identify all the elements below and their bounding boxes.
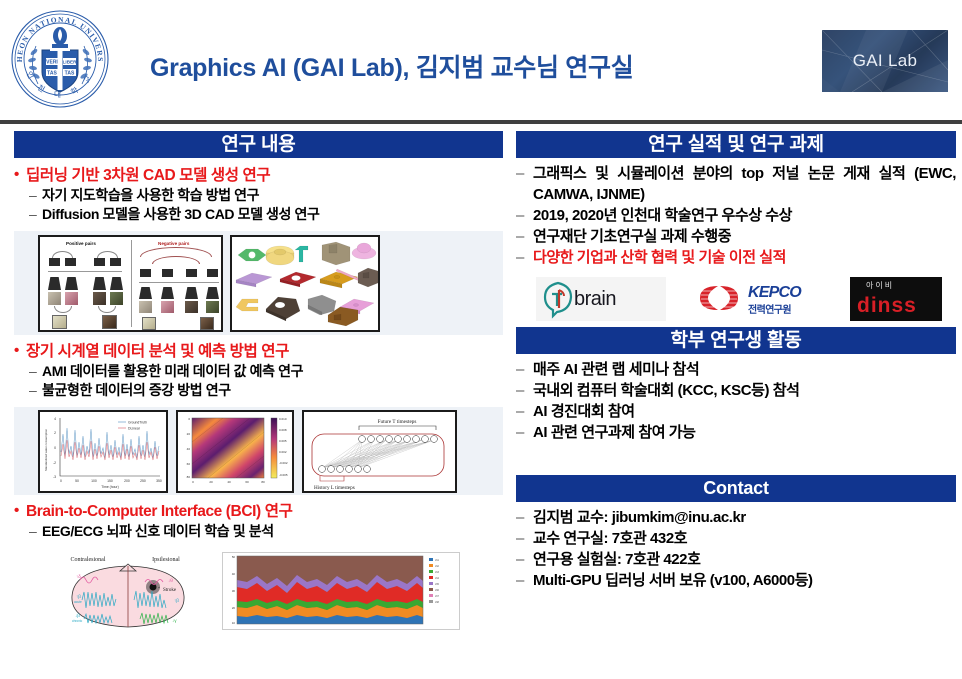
svg-text:0: 0 <box>192 480 194 484</box>
section-header-undergrad: 학부 연구생 활동 <box>516 327 956 354</box>
undergrad-item-3: AI 경진대회 참여 <box>516 401 956 422</box>
svg-text:↓β: ↓β <box>75 613 80 618</box>
svg-text:40: 40 <box>232 572 236 576</box>
left-column: 연구 내용 딥러닝 기반 3차원 CAD 모델 생성 연구 자기 지도학습을 사… <box>14 131 503 630</box>
svg-text:Time (hour): Time (hour) <box>101 485 118 489</box>
caption-positive-pairs: Positive pairs <box>66 241 96 246</box>
svg-text:40: 40 <box>187 447 191 451</box>
topic-group-timeseries: 장기 시계열 데이터 분석 및 예측 방법 연구 AMI 데이터를 활용한 미래… <box>14 342 503 400</box>
svg-text:↓θ: ↓θ <box>168 578 173 583</box>
svg-text:0: 0 <box>60 479 62 483</box>
svg-text:ch3: ch3 <box>435 571 440 574</box>
topic-sub-timeseries-2: 불균형한 데이터의 증강 방법 연구 <box>14 381 503 400</box>
eeg-brain-topography: Contralesional Ipsilesional Stroke ↑δ ↓θ <box>50 552 210 630</box>
cad-model-gallery <box>230 235 380 332</box>
svg-text:20: 20 <box>187 432 191 436</box>
gai-lab-logo-label: GAI Lab <box>822 30 948 92</box>
svg-text:50: 50 <box>232 555 236 559</box>
svg-text:-3: -3 <box>53 475 56 479</box>
svg-text:0.005: 0.005 <box>279 439 287 443</box>
caption-stroke: Stroke <box>163 588 177 593</box>
svg-text:30: 30 <box>232 589 236 593</box>
caption-future-timesteps: Future T timesteps <box>378 419 417 425</box>
topic-group-cad: 딥러닝 기반 3차원 CAD 모델 생성 연구 자기 지도학습을 사용한 학습 … <box>14 166 503 224</box>
svg-text:-2: -2 <box>53 461 56 465</box>
contrastive-learning-diagram: Positive pairs Negative pairs <box>38 235 223 332</box>
svg-text:150: 150 <box>107 479 113 483</box>
contact-item-server: Multi-GPU 딥러닝 서버 보유 (v100, A6000등) <box>516 570 956 591</box>
figure-strip-cad: Positive pairs Negative pairs <box>14 231 503 335</box>
svg-text:0.002: 0.002 <box>279 450 287 454</box>
svg-text:0: 0 <box>188 417 190 421</box>
header-divider <box>0 120 962 124</box>
caption-negative-pairs: Negative pairs <box>158 241 189 246</box>
svg-text:4: 4 <box>54 417 56 421</box>
svg-text:↑β: ↑β <box>76 594 81 599</box>
topic-sub-cad-1: 자기 지도학습을 사용한 학습 방법 연구 <box>14 186 503 205</box>
figure-strip-bci: Contralesional Ipsilesional Stroke ↑δ ↓θ <box>14 548 503 630</box>
svg-text:0.010: 0.010 <box>279 417 287 421</box>
caption-ipsilesional: Ipsilesional <box>152 557 180 563</box>
svg-text:↑β: ↑β <box>174 598 179 603</box>
svg-text:0.008: 0.008 <box>279 428 287 432</box>
svg-text:Standardized water consumption: Standardized water consumption <box>44 429 48 471</box>
dinss-logo-word: dinss <box>857 294 917 318</box>
partner-logos: brain KEPCO 전력연구원 아이비 dinss <box>516 277 956 323</box>
svg-text:80: 80 <box>261 480 265 484</box>
svg-text:ch4: ch4 <box>435 577 440 580</box>
svg-text:ch2: ch2 <box>435 565 440 568</box>
achievement-item-4: 다양한 기업과 산학 협력 및 기술 이전 실적 <box>516 247 956 268</box>
topic-heading-cad: 딥러닝 기반 3차원 CAD 모델 생성 연구 <box>14 166 503 186</box>
slide-header: INCHEON NATIONAL UNIVERSITY 인 천 대 학 교 <box>0 0 962 122</box>
brain-logo-word: brain <box>574 288 616 311</box>
contact-item-office: 교수 연구실: 7호관 432호 <box>516 528 956 549</box>
undergrad-list: 매주 AI 관련 랩 세미나 참석 국내외 컴퓨터 학술대회 (KCC, KSC… <box>516 359 956 443</box>
achievement-item-1: 그래픽스 및 시뮬레이션 분야의 top 저널 논문 게재 실적 (EWC, C… <box>516 163 956 205</box>
legend-dlinear: DLinear <box>128 426 141 430</box>
svg-text:↑δ: ↑δ <box>76 574 81 579</box>
section-header-achievements: 연구 실적 및 연구 과제 <box>516 131 956 158</box>
svg-text:acute: acute <box>74 600 82 604</box>
right-column: 연구 실적 및 연구 과제 그래픽스 및 시뮬레이션 분야의 top 저널 논문… <box>516 131 956 591</box>
contact-item-lab: 연구용 실험실: 7호관 422호 <box>516 549 956 570</box>
seal-veri-text: VERI <box>46 60 58 66</box>
section-header-contact: Contact <box>516 475 956 502</box>
timeseries-prediction-plot: 4 2 0 -2 -3 0 50 100 150 200 250 350 Tim… <box>38 410 168 493</box>
svg-text:50: 50 <box>75 479 79 483</box>
svg-text:ch1: ch1 <box>435 559 440 562</box>
svg-text:2: 2 <box>54 431 56 435</box>
svg-text:100: 100 <box>91 479 97 483</box>
contact-list: 김지범 교수: jibumkim@inu.ac.kr 교수 연구실: 7호관 4… <box>516 507 956 591</box>
undergrad-item-2: 국내외 컴퓨터 학술대회 (KCC, KSC등) 참석 <box>516 380 956 401</box>
topic-group-bci: Brain-to-Computer Interface (BCI) 연구 EEG… <box>14 502 503 541</box>
dinss-logo: 아이비 dinss <box>850 277 942 321</box>
seal-tas-left-text: TAS <box>47 71 57 77</box>
svg-text:250: 250 <box>140 479 146 483</box>
gai-lab-logo: GAI Lab <box>822 30 948 92</box>
svg-text:10: 10 <box>232 621 236 625</box>
svg-text:ch7: ch7 <box>435 595 440 598</box>
kepco-logo-word: KEPCO <box>748 284 801 302</box>
svg-text:20: 20 <box>232 606 236 610</box>
achievements-list: 그래픽스 및 시뮬레이션 분야의 top 저널 논문 게재 실적 (EWC, C… <box>516 163 956 268</box>
svg-text:0: 0 <box>54 446 56 450</box>
legend-groundtruth: GroundTruth <box>128 420 147 424</box>
topic-sub-cad-2: Diffusion 모델을 사용한 3D CAD 모델 생성 연구 <box>14 205 503 224</box>
achievement-item-2: 2019, 2020년 인천대 학술연구 우수상 수상 <box>516 205 956 226</box>
caption-history-timesteps: History L timesteps <box>314 485 355 491</box>
svg-text:ch5: ch5 <box>435 583 440 586</box>
figure-strip-timeseries: 4 2 0 -2 -3 0 50 100 150 200 250 350 Tim… <box>14 407 503 495</box>
svg-text:-0.005: -0.005 <box>279 473 288 477</box>
seal-liber-text: LIBER <box>63 60 77 65</box>
section-header-research-content: 연구 내용 <box>14 131 503 158</box>
svg-text:-0.002: -0.002 <box>279 461 288 465</box>
svg-text:60: 60 <box>245 480 249 484</box>
svg-text:chronic: chronic <box>72 619 83 623</box>
page-title: Graphics AI (GAI Lab), 김지범 교수님 연구실 <box>150 48 633 84</box>
svg-text:200: 200 <box>124 479 130 483</box>
brain-logo: brain <box>536 277 666 321</box>
svg-text:ch8: ch8 <box>435 601 440 604</box>
svg-text:↓γ: ↓γ <box>172 618 177 623</box>
svg-text:350: 350 <box>156 479 162 483</box>
undergrad-item-1: 매주 AI 관련 랩 세미나 참석 <box>516 359 956 380</box>
eeg-stacked-band-chart: 50 40 30 20 10 ch1ch2 <box>222 552 460 630</box>
topic-sub-bci-1: EEG/ECG 뇌파 신호 데이터 학습 및 분석 <box>14 522 503 541</box>
university-seal-logo: INCHEON NATIONAL UNIVERSITY 인 천 대 학 교 <box>6 4 114 114</box>
linear-forecast-network-diagram: Future T timesteps History L timesteps <box>302 410 457 493</box>
caption-contralesional: Contralesional <box>71 557 106 563</box>
svg-text:20: 20 <box>209 480 213 484</box>
undergrad-item-4: AI 관련 연구과제 참여 가능 <box>516 422 956 443</box>
kepco-logo-sub: 전력연구원 <box>748 301 791 316</box>
contact-item-email: 김지범 교수: jibumkim@inu.ac.kr <box>516 507 956 528</box>
achievement-item-3: 연구재단 기초연구실 과제 수행중 <box>516 226 956 247</box>
kepco-logo: KEPCO 전력연구원 <box>692 277 832 321</box>
dinss-logo-korean: 아이비 <box>866 280 894 291</box>
svg-text:60: 60 <box>187 462 191 466</box>
attention-heatmap: 0 20 40 60 80 0 20 40 60 80 0.010 0.008 … <box>176 410 294 493</box>
svg-text:40: 40 <box>227 480 231 484</box>
topic-heading-bci: Brain-to-Computer Interface (BCI) 연구 <box>14 502 503 522</box>
topic-heading-timeseries: 장기 시계열 데이터 분석 및 예측 방법 연구 <box>14 342 503 362</box>
seal-tas-right-text: TAS <box>65 71 75 77</box>
svg-text:80: 80 <box>187 475 191 479</box>
svg-text:ch6: ch6 <box>435 589 440 592</box>
topic-sub-timeseries-1: AMI 데이터를 활용한 미래 데이터 값 예측 연구 <box>14 362 503 381</box>
